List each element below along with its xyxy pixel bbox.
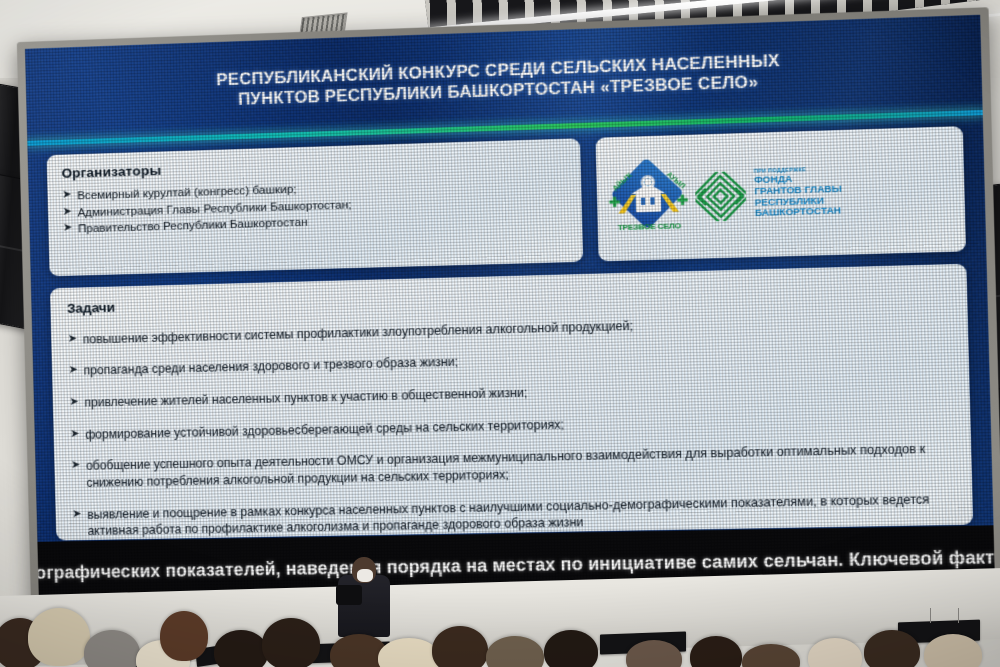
audience-person	[28, 608, 90, 666]
list-item: ➤ пропаганда среди населения здорового и…	[68, 342, 951, 380]
arrow-bullet-icon: ➤	[62, 189, 71, 203]
list-item: ➤ привлечение жителей населенных пунктов…	[69, 375, 952, 412]
audience-person	[544, 630, 598, 667]
grant-line-4: БАШКОРТОСТАН	[755, 207, 843, 221]
video-camera-icon	[336, 585, 362, 605]
fond-grantov-mark-icon	[695, 171, 747, 222]
tasks-card: Задачи ➤ повышение эффективности системы…	[50, 263, 972, 540]
logos-card: АЙЫҠ АУЫЛ ✚ ✚ ТРЕЗВОЕ СЕЛО	[596, 127, 966, 262]
fond-grantov-text: ПРИ ПОДДЕРЖКЕ ФОНДА ГРАНТОВ ГЛАВЫ РЕСПУБ…	[754, 168, 843, 221]
arrow-bullet-icon: ➤	[69, 395, 79, 410]
screen-surface: РЕСПУБЛИКАНСКИЙ КОНКУРС СРЕДИ СЕЛЬСКИХ Н…	[25, 15, 995, 606]
audience-person	[432, 626, 488, 667]
arrow-bullet-icon: ➤	[72, 507, 82, 522]
list-item-label: обобщение успешного опыта деятельности О…	[86, 442, 926, 490]
screen-bezel: РЕСПУБЛИКАНСКИЙ КОНКУРС СРЕДИ СЕЛЬСКИХ Н…	[17, 7, 1000, 612]
arrow-bullet-icon: ➤	[68, 363, 78, 378]
audience-person	[160, 611, 208, 661]
tasks-list: ➤ повышение эффективности системы профил…	[68, 309, 956, 540]
list-item: ➤ формирование устойчивой здоровьесберег…	[70, 408, 953, 444]
monitor-stem	[930, 608, 931, 623]
list-item: ➤ повышение эффективности системы профил…	[68, 309, 951, 348]
ornament-icon: ✚	[609, 195, 621, 209]
cameraman	[330, 553, 400, 633]
monitor-stem	[958, 608, 959, 623]
list-item-label: повышение эффективности системы профилак…	[83, 318, 634, 346]
arrow-bullet-icon: ➤	[71, 458, 81, 473]
audience-person	[214, 630, 268, 667]
list-item-label: пропаганда среди населения здорового и т…	[83, 355, 458, 378]
list-item-label: привлечение жителей населенных пунктов к…	[84, 386, 527, 410]
screenshot-root: РЕСПУБЛИКАНСКИЙ КОНКУРС СРЕДИ СЕЛЬСКИХ Н…	[0, 0, 1000, 667]
list-item: ➤ обобщение успешного опыта деятельности…	[71, 440, 955, 491]
presentation-slide: РЕСПУБЛИКАНСКИЙ КОНКУРС СРЕДИ СЕЛЬСКИХ Н…	[25, 15, 994, 542]
arrow-bullet-icon: ➤	[62, 205, 71, 219]
face-mask	[357, 569, 373, 582]
led-screen: РЕСПУБЛИКАНСКИЙ КОНКУРС СРЕДИ СЕЛЬСКИХ Н…	[17, 7, 1000, 612]
ornament-icon: ✚	[677, 193, 689, 207]
arrow-bullet-icon: ➤	[70, 426, 80, 441]
organizers-card: Организаторы ➤ Всемирный курултай (конгр…	[47, 139, 583, 277]
list-item-label: формирование устойчивой здоровьесберегаю…	[85, 417, 564, 441]
audience-person	[262, 618, 320, 667]
arrow-bullet-icon: ➤	[68, 331, 78, 346]
emblem-banner-label: ТРЕЗВОЕ СЕЛО	[610, 221, 688, 232]
audience-person	[864, 630, 920, 667]
arrow-bullet-icon: ➤	[63, 222, 72, 236]
organizers-list: ➤ Всемирный курултай (конгресс) башкир; …	[62, 174, 568, 238]
trezvoe-selo-emblem-icon: АЙЫҠ АУЫЛ ✚ ✚ ТРЕЗВОЕ СЕЛО	[609, 164, 688, 232]
